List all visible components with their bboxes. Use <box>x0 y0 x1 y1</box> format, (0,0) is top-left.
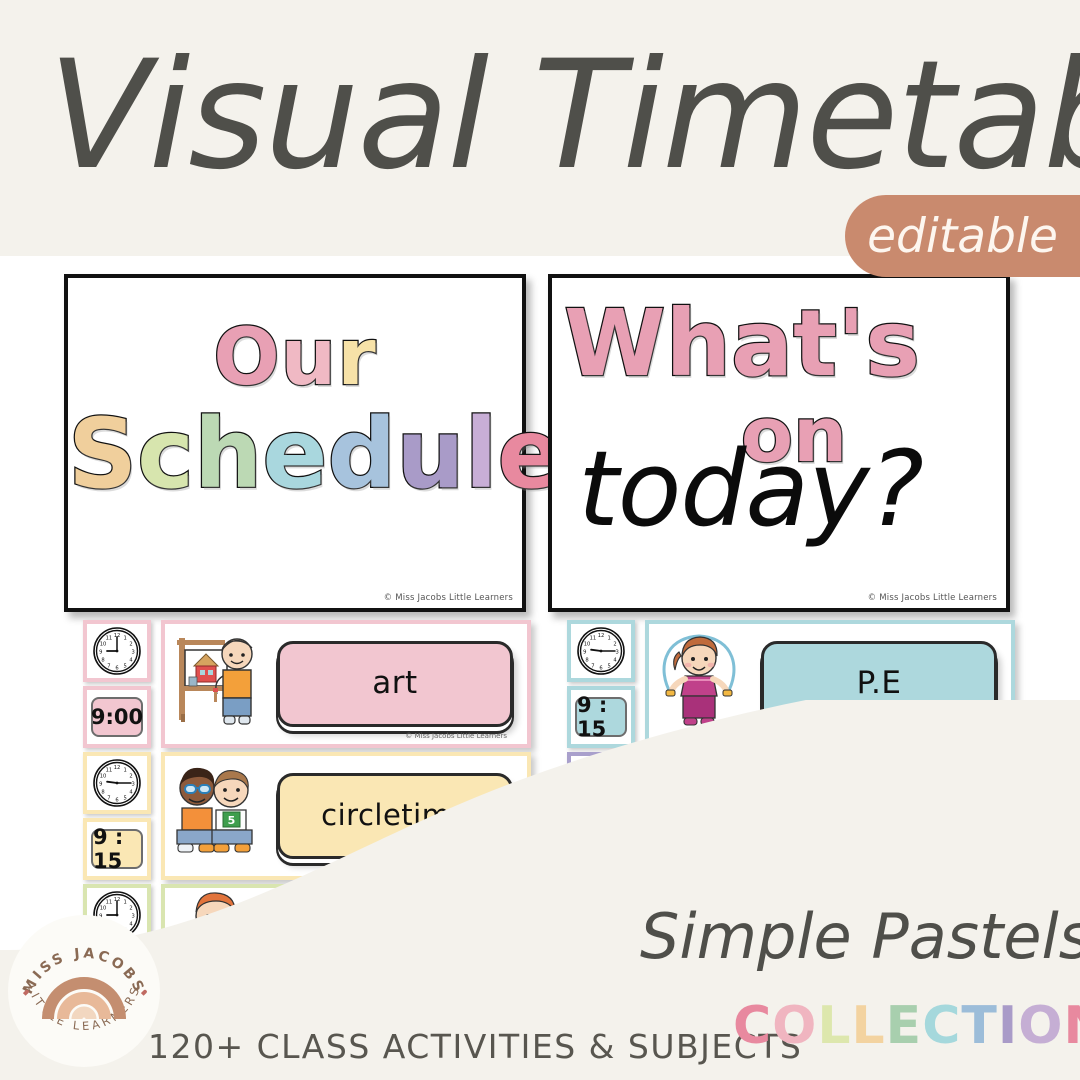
svg-text:5: 5 <box>607 663 610 669</box>
time-card[interactable]: 9:40 <box>567 818 635 880</box>
footer-tagline: 120+ CLASS ACTIVITIES & SUBJECTS <box>148 1027 802 1066</box>
svg-text:8: 8 <box>585 658 588 664</box>
svg-text:2: 2 <box>613 641 616 647</box>
svg-text:10: 10 <box>584 905 591 911</box>
clock-card[interactable]: 123456789101112 <box>567 620 635 682</box>
svg-text:3: 3 <box>616 649 619 655</box>
svg-text:10: 10 <box>100 905 107 911</box>
letter-2: h <box>194 398 262 510</box>
svg-text:11: 11 <box>106 767 113 773</box>
svg-text:6: 6 <box>115 798 118 804</box>
svg-text:1: 1 <box>123 767 126 773</box>
svg-text:7: 7 <box>591 927 594 933</box>
svg-text:11: 11 <box>590 635 597 641</box>
svg-text:12: 12 <box>114 765 121 771</box>
svg-text:2: 2 <box>613 905 616 911</box>
svg-text:10: 10 <box>584 641 591 647</box>
svg-text:11: 11 <box>106 635 113 641</box>
svg-text:1: 1 <box>607 899 610 905</box>
page-title: Visual Timetable <box>48 14 1038 224</box>
subject-label: English <box>277 905 513 991</box>
letter-0: O <box>213 313 280 403</box>
time-value: 9 : 15 <box>91 829 143 869</box>
time-value: 9:40 <box>575 829 627 869</box>
letter-3: L <box>852 996 886 1056</box>
letter-6: l <box>465 398 498 510</box>
boy-pocket-chart-icon: can top cat <box>649 756 757 876</box>
clock-column: 123456789101112 9 : 15 <box>83 752 151 880</box>
clock-column: 123456789101112 9:40 <box>567 752 635 880</box>
svg-text:1: 1 <box>123 899 126 905</box>
svg-text:10: 10 <box>100 773 107 779</box>
subject-card[interactable]: P.E © Miss Jacobs Little Learners <box>645 620 1015 748</box>
svg-text:10: 10 <box>100 641 107 647</box>
svg-text:9: 9 <box>583 913 586 919</box>
clock-card[interactable]: 123456789101112 <box>567 752 635 814</box>
collection-script-title: Simple Pastels <box>640 900 1080 973</box>
schedule-strip[interactable]: 123456789101112 9 : 15 <box>567 620 1015 748</box>
letter-0: C <box>733 996 772 1056</box>
letter-1: h <box>665 290 731 397</box>
subject-label: art <box>277 641 513 727</box>
svg-text:11: 11 <box>106 899 113 905</box>
clock-face-icon: 123456789101112 <box>575 625 627 677</box>
svg-text:5: 5 <box>607 795 610 801</box>
letter-1: c <box>137 398 194 510</box>
svg-text:2: 2 <box>129 773 132 779</box>
time-card[interactable]: 9 : 15 <box>567 686 635 748</box>
svg-text:7: 7 <box>107 663 110 669</box>
svg-text:1: 1 <box>607 767 610 773</box>
subject-card[interactable]: English © Miss Jacobs Little Learners <box>161 884 531 1012</box>
schedule-strip[interactable]: 123456789101112 9:40 <box>567 752 1015 880</box>
subject-label: P.E <box>761 641 997 727</box>
rainbow-icon <box>48 983 120 1019</box>
collection-wordmark: COLLECTION <box>733 996 1080 1056</box>
svg-text:11: 11 <box>590 899 597 905</box>
svg-text:3: 3 <box>616 913 619 919</box>
svg-text:7: 7 <box>591 663 594 669</box>
svg-text:5: 5 <box>607 927 610 933</box>
subject-label: phonics <box>761 773 997 859</box>
letter-5: s <box>865 290 920 397</box>
strip-credit: © Miss Jacobs Little Learners <box>889 864 991 872</box>
poster-canvas: Visual Timetable editable Our Schedule ©… <box>0 0 1080 1080</box>
subject-card[interactable]: art © Miss Jacobs Little Learners <box>161 620 531 748</box>
svg-text:8: 8 <box>101 658 104 664</box>
svg-text:8: 8 <box>585 790 588 796</box>
boy-with-book-icon <box>165 888 273 1008</box>
letter-5: C <box>922 996 961 1056</box>
logo-svg: MISS JACOBS LITTLE LEARNERS <box>8 915 160 1067</box>
svg-text:9: 9 <box>583 781 586 787</box>
two-children-sitting-icon: 5 <box>165 756 273 876</box>
letter-3: e <box>262 398 327 510</box>
svg-text:12: 12 <box>598 765 605 771</box>
svg-text:top: top <box>726 800 741 810</box>
svg-text:5: 5 <box>228 814 236 827</box>
svg-text:1: 1 <box>123 635 126 641</box>
poster-left-line1: Our <box>68 312 522 403</box>
svg-text:6: 6 <box>599 666 602 672</box>
clock-card[interactable]: 123456789101112 <box>83 752 151 814</box>
strip-credit: © Miss Jacobs Little Learners <box>405 864 507 872</box>
clock-card[interactable]: 123456789101112 <box>83 620 151 682</box>
time-value: 9 : 15 <box>575 697 627 737</box>
our-schedule-poster[interactable]: Our Schedule © Miss Jacobs Little Learne… <box>64 274 526 612</box>
strip-credit: © Miss Jacobs Little Learners <box>405 996 507 1004</box>
letter-6: T <box>961 996 997 1056</box>
letter-4: d <box>328 398 397 510</box>
svg-text:9: 9 <box>99 781 102 787</box>
svg-text:7: 7 <box>591 795 594 801</box>
clock-face-icon: 123456789101112 <box>575 757 627 809</box>
svg-text:2: 2 <box>129 905 132 911</box>
svg-text:2: 2 <box>613 773 616 779</box>
clock-face-icon: 123456789101112 <box>575 889 627 941</box>
clock-column: 123456789101112 9:00 <box>83 620 151 748</box>
svg-text:3: 3 <box>616 781 619 787</box>
svg-text:7: 7 <box>107 795 110 801</box>
schedule-strip[interactable]: 123456789101112 9:00 <box>83 620 531 748</box>
svg-text:6: 6 <box>599 798 602 804</box>
subject-card[interactable]: 5 circletime © Miss Jacobs Little Learne… <box>161 752 531 880</box>
time-value: 9:00 <box>91 697 143 737</box>
svg-text:1: 1 <box>607 635 610 641</box>
svg-text:11: 11 <box>590 767 597 773</box>
strip-credit: © Miss Jacobs Little Learners <box>889 732 991 740</box>
letter-5: u <box>396 398 464 510</box>
clock-face-icon: 123456789101112 <box>91 757 143 809</box>
strip-credit: © Miss Jacobs Little Learners <box>405 732 507 740</box>
schedule-strip[interactable]: 123456789101112 9 : 15 <box>83 752 531 880</box>
letter-8: O <box>1018 996 1063 1056</box>
letter-1: u <box>281 313 338 403</box>
time-card[interactable]: 9:00 <box>83 686 151 748</box>
svg-text:3: 3 <box>132 781 135 787</box>
editable-badge: editable <box>845 195 1080 277</box>
letter-2: r <box>337 313 376 403</box>
letter-2: L <box>817 996 851 1056</box>
svg-text:can: can <box>725 782 741 792</box>
letter-4: ' <box>837 290 865 397</box>
boy-painting-easel-icon <box>165 624 273 744</box>
whats-on-today-poster[interactable]: What's on today? © Miss Jacobs Little Le… <box>548 274 1010 612</box>
svg-text:6: 6 <box>599 930 602 936</box>
letter-7: I <box>998 996 1018 1056</box>
svg-text:5: 5 <box>123 663 126 669</box>
letter-4: E <box>886 996 923 1056</box>
svg-text:9: 9 <box>583 649 586 655</box>
svg-text:9: 9 <box>99 649 102 655</box>
svg-text:8: 8 <box>585 922 588 928</box>
clock-column: 123456789101112 <box>567 884 635 946</box>
poster-right-line1: What's <box>564 290 1018 397</box>
poster-credit: © Miss Jacobs Little Learners <box>384 593 513 603</box>
clock-column: 123456789101112 9 : 15 <box>567 620 635 748</box>
clock-face-icon: 123456789101112 <box>91 625 143 677</box>
subject-card[interactable]: can top cat phonics © Miss Jacobs Little <box>645 752 1015 880</box>
letter-3: t <box>793 290 837 397</box>
letter-2: a <box>731 290 793 397</box>
girl-skipping-rope-icon <box>649 624 757 744</box>
poster-right-script-line: today? <box>578 428 1032 550</box>
svg-text:2: 2 <box>129 641 132 647</box>
svg-text:3: 3 <box>132 649 135 655</box>
poster-credit: © Miss Jacobs Little Learners <box>868 593 997 603</box>
letter-1: O <box>772 996 817 1056</box>
letter-9: N <box>1063 996 1080 1056</box>
letter-0: W <box>564 290 665 397</box>
clock-card[interactable]: 123456789101112 <box>567 884 635 946</box>
svg-text:6: 6 <box>115 666 118 672</box>
svg-text:cat: cat <box>726 818 740 828</box>
brand-logo: MISS JACOBS LITTLE LEARNERS <box>8 915 160 1067</box>
svg-text:8: 8 <box>101 790 104 796</box>
subject-label: circletime <box>277 773 513 859</box>
poster-left-line2: Schedule <box>68 398 522 510</box>
time-card[interactable]: 9 : 15 <box>83 818 151 880</box>
svg-text:5: 5 <box>123 795 126 801</box>
svg-text:12: 12 <box>598 633 605 639</box>
letter-0: S <box>68 398 137 510</box>
svg-text:10: 10 <box>584 773 591 779</box>
